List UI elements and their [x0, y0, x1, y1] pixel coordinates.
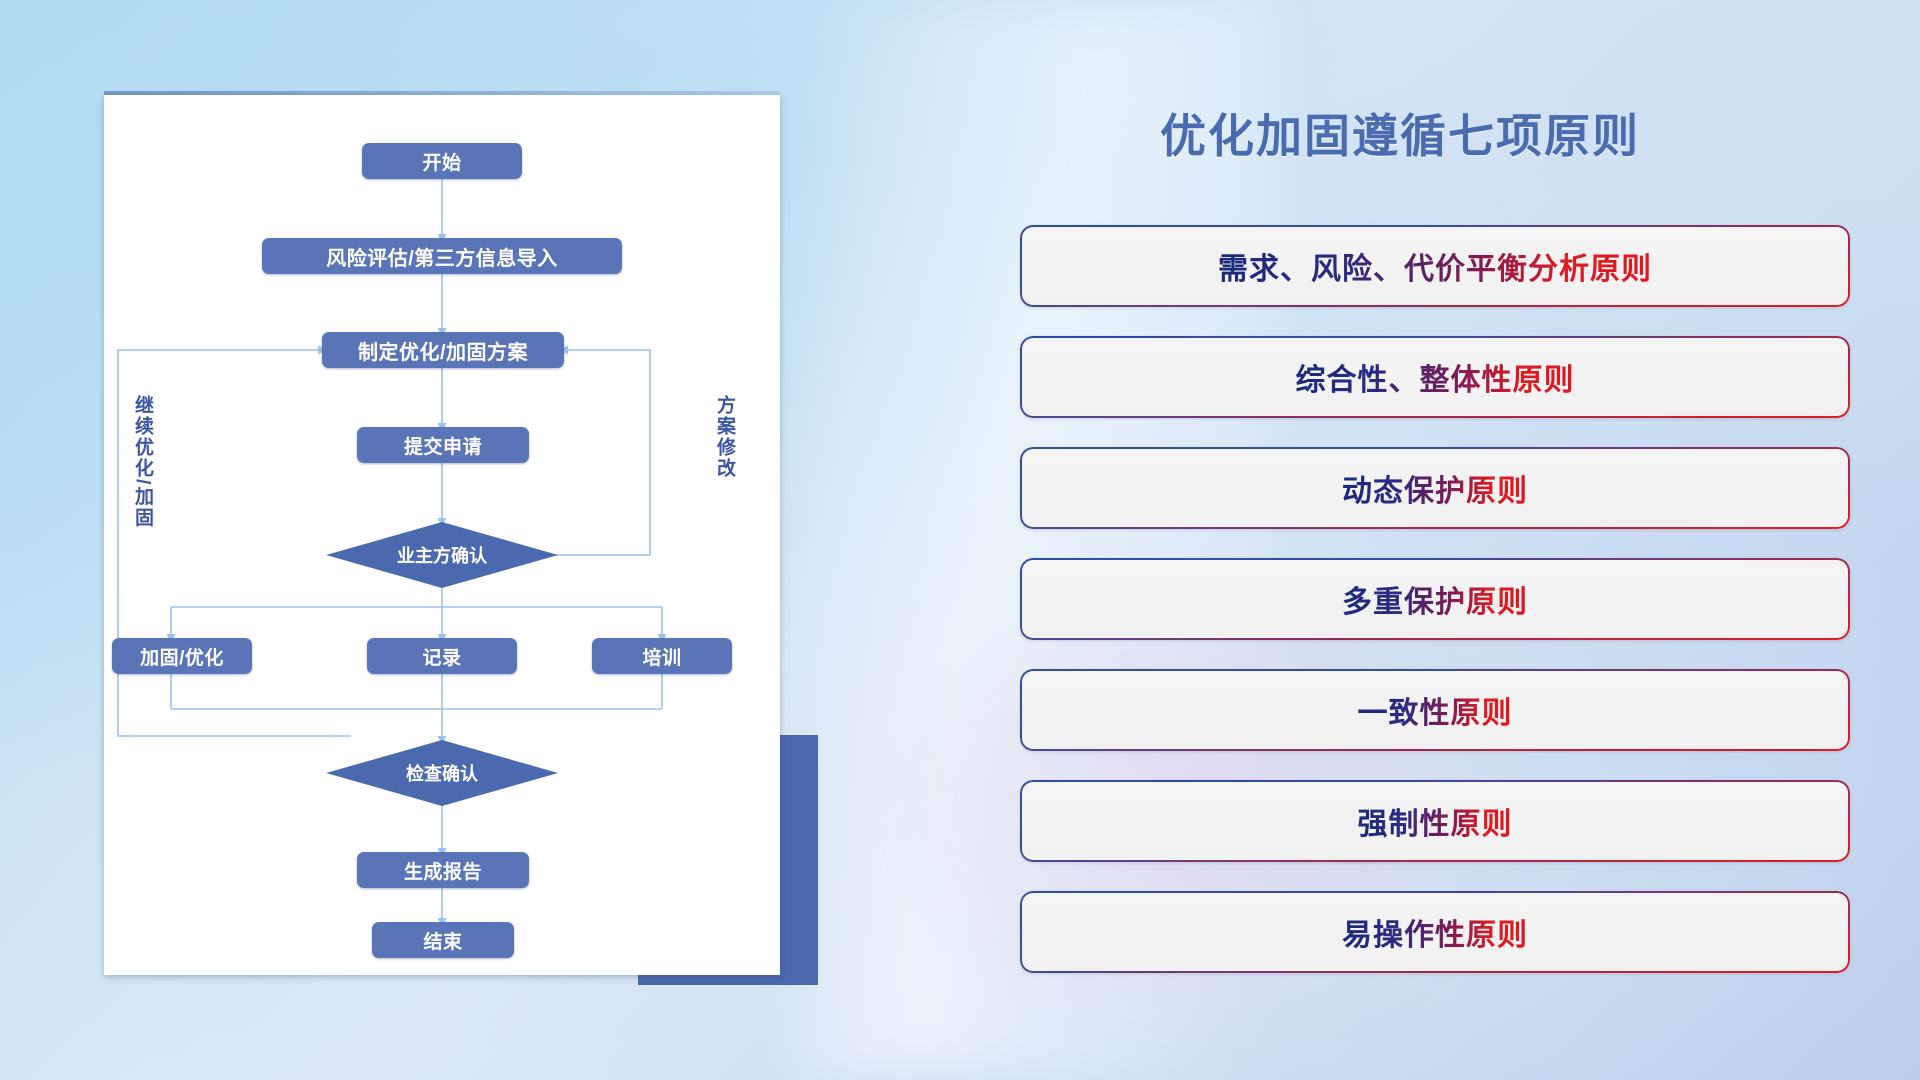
flow-node-plan[interactable]: 制定优化/加固方案	[322, 332, 564, 368]
principles-panel: 优化加固遵循七项原则 需求、风险、代价平衡分析原则 综合性、整体性原则 动态保护…	[1020, 80, 1850, 1020]
principle-label: 需求、风险、代价平衡分析原则	[1218, 244, 1652, 288]
principle-card-4[interactable]: 多重保护原则	[1020, 558, 1850, 640]
flow-node-end[interactable]: 结束	[372, 922, 514, 958]
flow-node-label: 结束	[423, 927, 462, 954]
principles-list: 需求、风险、代价平衡分析原则 综合性、整体性原则 动态保护原则 多重保护原则 一…	[1020, 225, 1850, 1002]
principle-label: 强制性原则	[1358, 799, 1513, 843]
principle-label: 一致性原则	[1358, 688, 1513, 732]
principle-card-2[interactable]: 综合性、整体性原则	[1020, 336, 1850, 418]
flow-node-report[interactable]: 生成报告	[357, 852, 529, 888]
flow-node-label: 培训	[642, 643, 681, 670]
flow-node-label: 生成报告	[404, 857, 482, 884]
panel-title: 优化加固遵循七项原则	[1160, 100, 1640, 166]
flow-decision-label: 检查确认	[406, 760, 478, 786]
flow-node-label: 记录	[422, 643, 461, 670]
flow-node-record[interactable]: 记录	[367, 638, 517, 674]
principle-label: 易操作性原则	[1342, 910, 1528, 954]
flow-node-train[interactable]: 培训	[592, 638, 732, 674]
flowchart: 开始 风险评估/第三方信息导入 制定优化/加固方案 提交申请 业主方确认 加固/…	[104, 95, 780, 975]
flow-node-label: 风险评估/第三方信息导入	[326, 242, 558, 271]
flow-edge-label-right: 方案修改	[714, 395, 734, 479]
flow-node-assess[interactable]: 风险评估/第三方信息导入	[262, 238, 622, 274]
flow-node-submit[interactable]: 提交申请	[357, 427, 529, 463]
principle-label: 动态保护原则	[1342, 466, 1528, 510]
principle-card-3[interactable]: 动态保护原则	[1020, 447, 1850, 529]
flowchart-sheet: 开始 风险评估/第三方信息导入 制定优化/加固方案 提交申请 业主方确认 加固/…	[104, 95, 780, 975]
principle-card-1[interactable]: 需求、风险、代价平衡分析原则	[1020, 225, 1850, 307]
flow-node-label: 加固/优化	[140, 643, 224, 670]
principle-card-7[interactable]: 易操作性原则	[1020, 891, 1850, 973]
principle-label: 多重保护原则	[1342, 577, 1528, 621]
flow-node-harden[interactable]: 加固/优化	[112, 638, 252, 674]
flow-node-label: 制定优化/加固方案	[358, 336, 528, 365]
flow-edge-label-left: 继续优化/加固	[132, 395, 152, 528]
principle-label: 综合性、整体性原则	[1296, 355, 1575, 399]
principle-card-5[interactable]: 一致性原则	[1020, 669, 1850, 751]
flow-decision-label: 业主方确认	[397, 542, 487, 568]
flow-node-start[interactable]: 开始	[362, 143, 522, 179]
principle-card-6[interactable]: 强制性原则	[1020, 780, 1850, 862]
flow-node-label: 提交申请	[404, 432, 482, 459]
flow-node-label: 开始	[422, 148, 461, 175]
